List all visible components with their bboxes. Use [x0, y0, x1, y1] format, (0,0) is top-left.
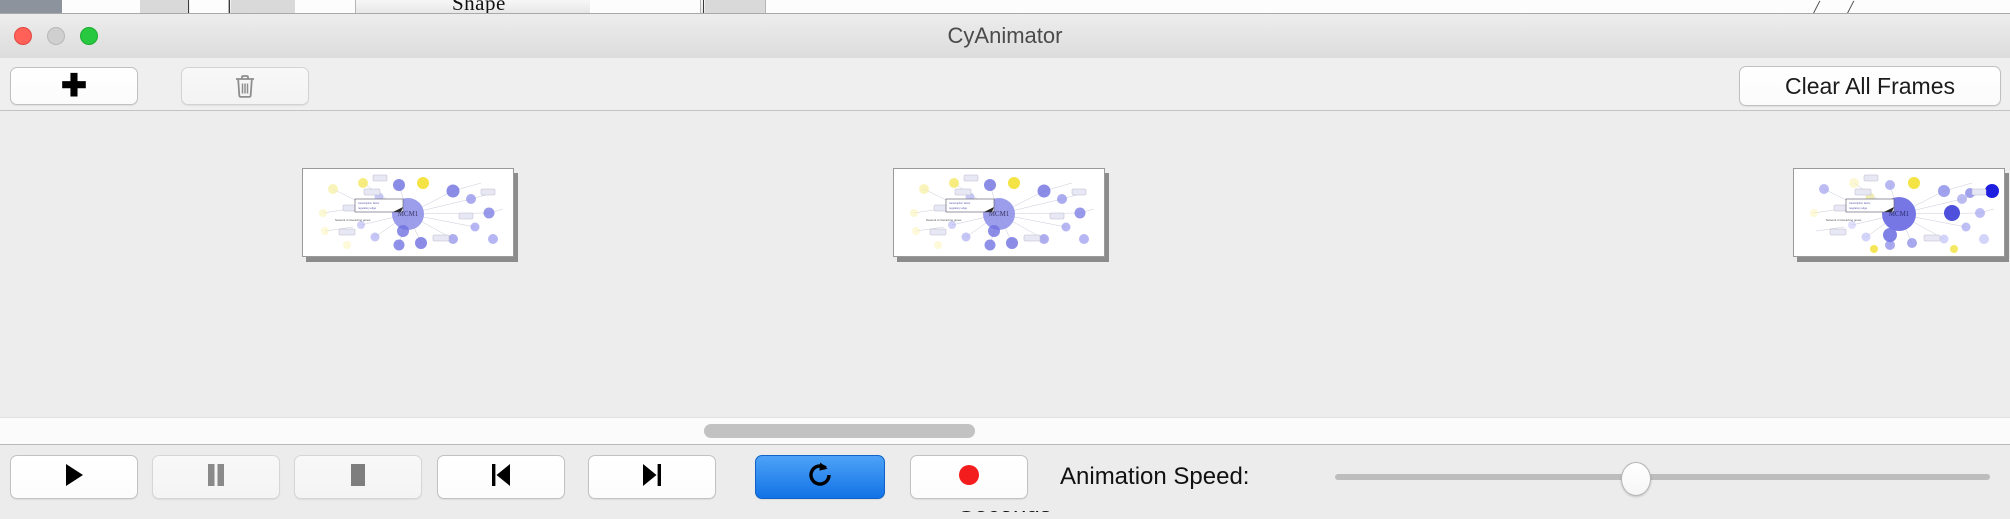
play-button[interactable]: [10, 455, 138, 499]
skip-start-button[interactable]: [437, 455, 565, 499]
animation-speed-label: Animation Speed:: [1060, 455, 1249, 499]
svg-text:Network of interacting genes: Network of interacting genes: [335, 218, 371, 222]
background-window-label: Shape: [452, 0, 506, 14]
svg-text:Network of interacting genes: Network of interacting genes: [1826, 218, 1862, 222]
loop-button[interactable]: [755, 455, 885, 499]
toolbar: ✚ Clear All Frames: [0, 58, 2010, 111]
svg-text:regulatory edge: regulatory edge: [1849, 206, 1868, 210]
animation-speed-slider[interactable]: [1335, 455, 1990, 499]
frame-thumbnail: transcription factor regulatory edge Net…: [1793, 168, 2005, 257]
pause-icon: [206, 463, 226, 492]
timeline-scrollbar[interactable]: [0, 417, 2010, 445]
skip-start-icon: [489, 463, 513, 492]
title-bar: CyAnimator: [0, 14, 2010, 59]
slider-thumb[interactable]: [1621, 462, 1651, 496]
slider-track[interactable]: [1335, 474, 1990, 480]
timeline-panel[interactable]: transcription factor regulatory edge Net…: [0, 111, 2010, 415]
clear-all-frames-button[interactable]: Clear All Frames: [1739, 66, 2001, 106]
record-icon: [957, 463, 981, 492]
svg-text:MCM1: MCM1: [989, 210, 1010, 218]
window-title: CyAnimator: [0, 14, 2010, 58]
clear-all-frames-label: Clear All Frames: [1785, 73, 1955, 100]
frame-thumbnail: transcription factor regulatory edge Net…: [302, 168, 514, 257]
svg-text:MCM1: MCM1: [1889, 210, 1910, 218]
stop-icon: [347, 463, 369, 492]
pause-button[interactable]: [152, 455, 280, 499]
svg-text:regulatory edge: regulatory edge: [949, 206, 968, 210]
svg-text:transcription factor: transcription factor: [358, 201, 379, 205]
delete-frame-button[interactable]: [181, 67, 309, 105]
svg-text:transcription factor: transcription factor: [949, 201, 970, 205]
frame-thumbnail: transcription factor regulatory edge Net…: [893, 168, 1105, 257]
svg-text:MCM1: MCM1: [398, 210, 419, 218]
svg-text:transcription factor: transcription factor: [1849, 201, 1870, 205]
stop-button[interactable]: [294, 455, 422, 499]
svg-text:regulatory edge: regulatory edge: [358, 206, 377, 210]
loop-icon: [806, 461, 834, 494]
background-window-strip: Shape ╱ ╱: [0, 0, 2010, 14]
skip-end-icon: [640, 463, 664, 492]
playback-toolbar: Animation Speed:: [0, 444, 2010, 511]
trash-icon: [234, 74, 256, 99]
svg-text:Network of interacting genes: Network of interacting genes: [926, 218, 962, 222]
cyanimator-window: Shape ╱ ╱ CyAnimator ✚: [0, 0, 2010, 510]
add-frame-button[interactable]: ✚: [10, 67, 138, 105]
scrollbar-thumb[interactable]: [704, 424, 975, 438]
record-button[interactable]: [910, 455, 1028, 499]
play-icon: [63, 463, 85, 492]
skip-end-button[interactable]: [588, 455, 716, 499]
